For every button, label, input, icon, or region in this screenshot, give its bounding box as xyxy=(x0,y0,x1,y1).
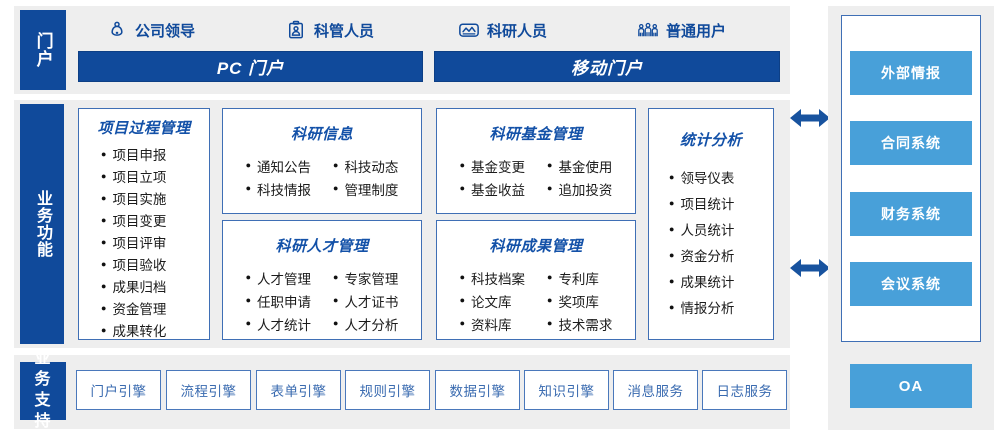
engine-message-service[interactable]: 消息服务 xyxy=(613,370,698,410)
list-item[interactable]: 情报分析 xyxy=(669,294,773,320)
layer-tag-portal: 门户 xyxy=(20,10,66,90)
list-item[interactable]: 人员统计 xyxy=(669,216,773,242)
portal-bar-mobile[interactable]: 移动门户 xyxy=(434,51,780,82)
role-label: 科研人员 xyxy=(487,20,547,41)
module-research-info[interactable]: 科研信息 通知公告 科技动态 科技情报 管理制度 xyxy=(222,108,422,214)
list-item[interactable]: 领导仪表 xyxy=(669,164,773,190)
module-title: 科研成果管理 xyxy=(437,235,635,256)
list-item[interactable]: 专利库 xyxy=(547,267,612,288)
engine-data[interactable]: 数据引擎 xyxy=(435,370,520,410)
list-item[interactable]: 专家管理 xyxy=(333,267,398,288)
module-title: 科研人才管理 xyxy=(223,235,421,256)
external-system-contract[interactable]: 合同系统 xyxy=(850,121,972,165)
list-item[interactable]: 成果转化 xyxy=(101,319,209,341)
list-item[interactable]: 奖项库 xyxy=(547,290,612,311)
role-label: 公司领导 xyxy=(135,20,195,41)
module-item-list: 通知公告 科技动态 科技情报 管理制度 xyxy=(223,155,421,199)
general-user-group-icon xyxy=(637,19,659,41)
role-company-leader[interactable]: 公司领导 xyxy=(106,19,195,41)
list-item[interactable]: 项目变更 xyxy=(101,209,209,231)
engine-log-service[interactable]: 日志服务 xyxy=(702,370,787,410)
external-system-intel[interactable]: 外部情报 xyxy=(850,51,972,95)
list-item[interactable]: 任职申请 xyxy=(246,290,311,311)
list-item[interactable]: 人才分析 xyxy=(333,313,398,334)
list-item[interactable]: 资金分析 xyxy=(669,242,773,268)
list-item[interactable]: 通知公告 xyxy=(246,155,311,176)
module-fund-management[interactable]: 科研基金管理 基金变更 基金使用 基金收益 追加投资 xyxy=(436,108,636,214)
top-bidirectional-arrow xyxy=(789,104,831,137)
external-system-finance[interactable]: 财务系统 xyxy=(850,192,972,236)
module-title: 统计分析 xyxy=(649,129,773,150)
module-title: 科研基金管理 xyxy=(437,123,635,144)
list-item[interactable]: 技术需求 xyxy=(547,313,612,334)
bottom-bidirectional-arrow xyxy=(789,254,831,287)
module-achievement-management[interactable]: 科研成果管理 科技档案 专利库 论文库 奖项库 资料库 技术需求 xyxy=(436,220,636,340)
list-item[interactable]: 管理制度 xyxy=(333,178,398,199)
module-title: 科研信息 xyxy=(223,123,421,144)
list-item[interactable]: 追加投资 xyxy=(547,178,612,199)
module-title: 项目过程管理 xyxy=(79,117,209,138)
list-item[interactable]: 项目申报 xyxy=(101,143,209,165)
list-item[interactable]: 基金收益 xyxy=(460,178,525,199)
researcher-chart-icon xyxy=(458,19,480,41)
layer-tag-business-support: 业务支持 xyxy=(20,362,66,420)
engine-portal[interactable]: 门户引擎 xyxy=(76,370,161,410)
list-item[interactable]: 科技情报 xyxy=(246,178,311,199)
module-item-list: 领导仪表 项目统计 人员统计 资金分析 成果统计 情报分析 xyxy=(649,164,773,320)
layer-tag-label: 业务支持 xyxy=(27,349,59,432)
list-item[interactable]: 人才管理 xyxy=(246,267,311,288)
role-general-user[interactable]: 普通用户 xyxy=(637,19,726,41)
engine-knowledge[interactable]: 知识引擎 xyxy=(524,370,609,410)
research-admin-badge-icon xyxy=(285,19,307,41)
engine-process[interactable]: 流程引擎 xyxy=(166,370,251,410)
portal-bar-pc[interactable]: PC 门户 xyxy=(78,51,423,82)
company-leader-icon xyxy=(106,19,128,41)
list-item[interactable]: 基金使用 xyxy=(547,155,612,176)
module-project-process[interactable]: 项目过程管理 项目申报 项目立项 项目实施 项目变更 项目评审 项目验收 成果归… xyxy=(78,108,210,340)
list-item[interactable]: 成果归档 xyxy=(101,275,209,297)
list-item[interactable]: 成果统计 xyxy=(669,268,773,294)
list-item[interactable]: 资料库 xyxy=(460,313,525,334)
module-item-list: 人才管理 专家管理 任职申请 人才证书 人才统计 人才分析 xyxy=(223,267,421,334)
external-system-oa[interactable]: OA xyxy=(850,364,972,408)
list-item[interactable]: 项目统计 xyxy=(669,190,773,216)
engine-rule[interactable]: 规则引擎 xyxy=(345,370,430,410)
list-item[interactable]: 项目验收 xyxy=(101,253,209,275)
list-item[interactable]: 科技动态 xyxy=(333,155,398,176)
list-item[interactable]: 项目立项 xyxy=(101,165,209,187)
role-label: 普通用户 xyxy=(666,20,726,41)
module-item-list: 科技档案 专利库 论文库 奖项库 资料库 技术需求 xyxy=(437,267,635,334)
role-research-admin[interactable]: 科管人员 xyxy=(285,19,374,41)
list-item[interactable]: 基金变更 xyxy=(460,155,525,176)
list-item[interactable]: 项目实施 xyxy=(101,187,209,209)
list-item[interactable]: 项目评审 xyxy=(101,231,209,253)
list-item[interactable]: 人才统计 xyxy=(246,313,311,334)
list-item[interactable]: 资金管理 xyxy=(101,297,209,319)
list-item[interactable]: 人才证书 xyxy=(333,290,398,311)
role-label: 科管人员 xyxy=(314,20,374,41)
module-item-list: 项目申报 项目立项 项目实施 项目变更 项目评审 项目验收 成果归档 资金管理 … xyxy=(79,143,209,341)
architecture-diagram: 门户 公司领导 科管人员 xyxy=(0,0,1000,436)
list-item[interactable]: 科技档案 xyxy=(460,267,525,288)
module-statistics[interactable]: 统计分析 领导仪表 项目统计 人员统计 资金分析 成果统计 情报分析 xyxy=(648,108,774,340)
layer-tag-business-function: 业务功能 xyxy=(20,104,64,344)
module-item-list: 基金变更 基金使用 基金收益 追加投资 xyxy=(437,155,635,199)
engine-form[interactable]: 表单引擎 xyxy=(256,370,341,410)
external-system-meeting[interactable]: 会议系统 xyxy=(850,262,972,306)
module-talent-management[interactable]: 科研人才管理 人才管理 专家管理 任职申请 人才证书 人才统计 人才分析 xyxy=(222,220,422,340)
list-item[interactable]: 论文库 xyxy=(460,290,525,311)
role-researcher[interactable]: 科研人员 xyxy=(458,19,547,41)
